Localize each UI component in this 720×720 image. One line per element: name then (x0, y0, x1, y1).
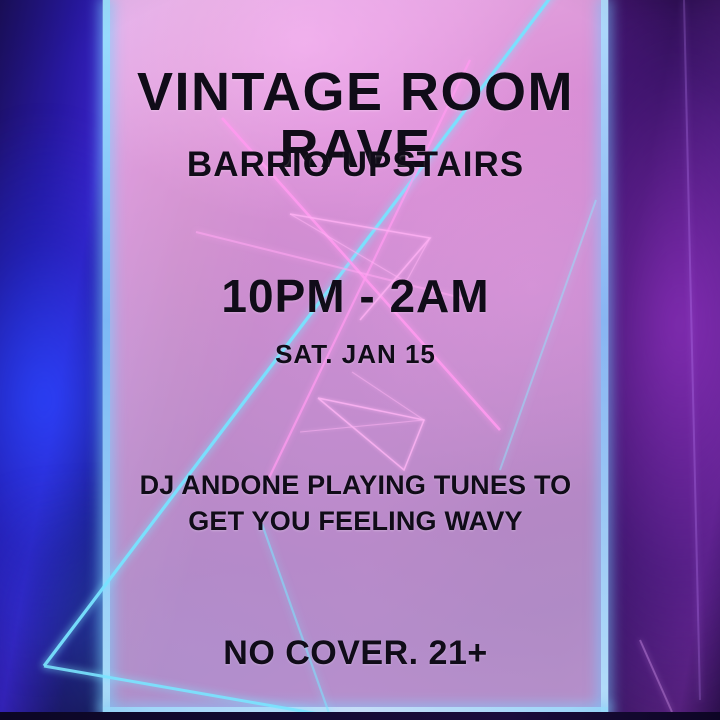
lineup-line-1: DJ ANDONE PLAYING TUNES TO (103, 467, 608, 503)
event-venue: BARRIO UPSTAIRS (103, 147, 608, 184)
event-cover-info: NO COVER. 21+ (103, 636, 608, 672)
bottom-dark-strip (0, 712, 720, 720)
event-lineup: DJ ANDONE PLAYING TUNES TO GET YOU FEELI… (103, 467, 608, 540)
event-time: 10PM - 2AM (103, 272, 608, 320)
event-date: SAT. JAN 15 (103, 341, 608, 368)
lineup-line-2: GET YOU FEELING WAVY (103, 503, 608, 539)
event-flyer: VINTAGE ROOM RAVE BARRIO UPSTAIRS 10PM -… (0, 0, 720, 720)
